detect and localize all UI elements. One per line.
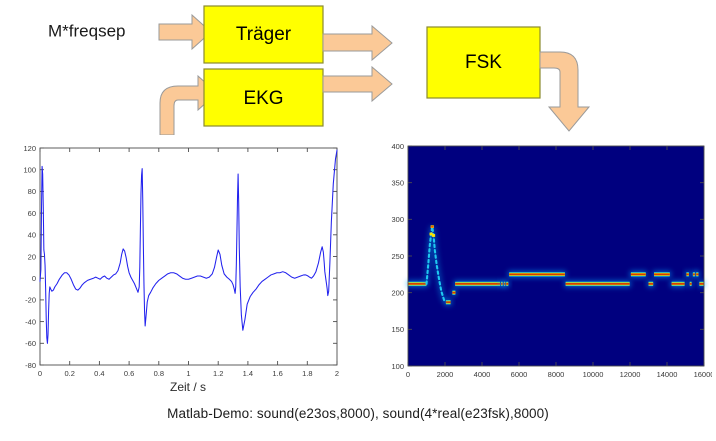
spectrogram-xtick-label: 2000 [437, 370, 454, 379]
caption-text: Matlab-Demo: sound(e23os,8000), sound(4*… [0, 406, 716, 421]
ecg-ytick-label: -40 [25, 317, 36, 326]
ecg-ytick-label: -60 [25, 339, 36, 348]
ecg-xtick-label: 1.4 [243, 369, 253, 378]
spectrogram-background [408, 146, 704, 366]
input-label-mfreqsep: M*freqsep [48, 21, 125, 40]
arrow-input-to-traeger [159, 15, 211, 49]
ecg-ytick-label: 60 [28, 209, 36, 218]
spectrogram-xtick-label: 8000 [548, 370, 565, 379]
block-ekg-label: EKG [243, 88, 283, 109]
screenshot-root: M*freqsep Träger EKG FSK [0, 0, 716, 441]
ecg-ytick-label: -20 [25, 296, 36, 305]
ecg-chart: 00.20.40.60.811.21.41.61.82-80-60-40-200… [6, 138, 358, 396]
arrow-ekg-to-fsk [323, 67, 392, 101]
ecg-xtick-label: 0.6 [124, 369, 134, 378]
ecg-xtick-label: 2 [335, 369, 339, 378]
ecg-xtick-label: 1.2 [213, 369, 223, 378]
spectrogram-xtick-label: 6000 [511, 370, 528, 379]
arrow-fsk-output [540, 52, 589, 131]
ecg-ytick-label: -80 [25, 361, 36, 370]
spectrogram-ytick-label: 350 [391, 178, 404, 187]
ecg-ytick-label: 0 [32, 274, 36, 283]
spectrogram-xtick-label: 16000 [694, 370, 712, 379]
ecg-ytick-label: 100 [23, 166, 36, 175]
block-fsk-label: FSK [465, 52, 502, 73]
spectrogram-ytick-label: 200 [391, 288, 404, 297]
arrow-traeger-to-fsk [323, 26, 392, 60]
spectrogram-xtick-label: 0 [406, 370, 410, 379]
ecg-xtick-label: 0.4 [94, 369, 104, 378]
spectrogram-ytick-label: 100 [391, 362, 404, 371]
spectrogram-ytick-label: 150 [391, 325, 404, 334]
spectrogram-chart: 0200040006000800010000120001400016000100… [372, 138, 712, 396]
spectrogram-ytick-label: 300 [391, 215, 404, 224]
ecg-xtick-label: 0 [38, 369, 42, 378]
spectrogram-ytick-label: 400 [391, 142, 404, 151]
ecg-xaxis-title: Zeit / s [170, 380, 206, 394]
ecg-ytick-label: 80 [28, 187, 36, 196]
ecg-xtick-label: 1 [186, 369, 190, 378]
ecg-xtick-label: 0.2 [64, 369, 74, 378]
ecg-xtick-label: 1.8 [302, 369, 312, 378]
block-traeger-label: Träger [236, 24, 292, 45]
block-diagram: M*freqsep Träger EKG FSK [0, 0, 716, 135]
spectrogram-xtick-label: 12000 [620, 370, 641, 379]
spectrogram-xtick-label: 4000 [474, 370, 491, 379]
spectrogram-xtick-label: 14000 [657, 370, 678, 379]
ecg-ytick-label: 20 [28, 252, 36, 261]
ecg-xtick-label: 1.6 [272, 369, 282, 378]
ecg-xtick-label: 0.8 [154, 369, 164, 378]
spectrogram-xtick-label: 10000 [583, 370, 604, 379]
spectrogram-ytick-label: 250 [391, 252, 404, 261]
ecg-ytick-label: 40 [28, 231, 36, 240]
ecg-ytick-label: 120 [23, 144, 36, 153]
